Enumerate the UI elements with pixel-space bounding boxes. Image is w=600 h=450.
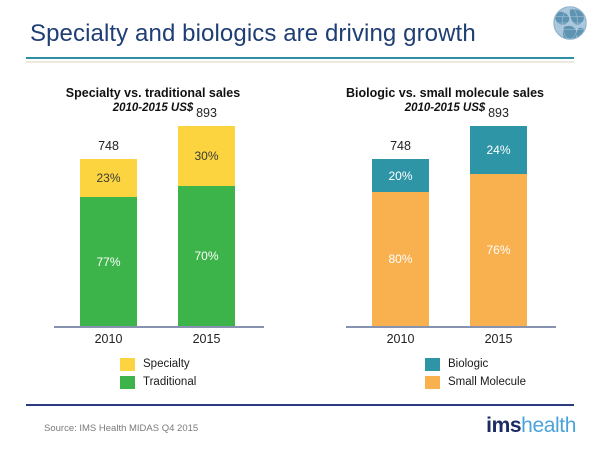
footer-divider bbox=[26, 404, 574, 406]
legend-item[interactable]: Specialty bbox=[120, 356, 196, 372]
stacked-bar-2015[interactable]: 893 24% 76% bbox=[470, 126, 527, 326]
legend-label: Traditional bbox=[143, 376, 196, 388]
bar-segment-specialty[interactable]: 30% bbox=[178, 126, 235, 186]
stacked-bar-2010[interactable]: 748 20% 80% bbox=[372, 159, 429, 326]
bar-segment-label: 24% bbox=[486, 143, 510, 157]
legend-biologic-chart: Biologic Small Molecule bbox=[425, 356, 526, 392]
stacked-bar-2015[interactable]: 893 30% 70% bbox=[178, 126, 235, 326]
legend-item[interactable]: Traditional bbox=[120, 374, 196, 390]
legend-swatch-biologic bbox=[425, 358, 440, 371]
plot-area: 748 20% 80% 893 24% 76% 2010 2015 bbox=[300, 120, 590, 390]
chart-subtitle: 2010-2015 US$ bbox=[300, 102, 590, 114]
title-underline-cream bbox=[26, 61, 574, 63]
legend-item[interactable]: Small Molecule bbox=[425, 374, 526, 390]
bar-total-label: 893 bbox=[168, 106, 245, 120]
bar-segment-label: 20% bbox=[388, 169, 412, 183]
bar-segment-specialty[interactable]: 23% bbox=[80, 159, 137, 197]
x-axis-tick-label: 2010 bbox=[70, 332, 147, 346]
legend-swatch-small-molecule bbox=[425, 376, 440, 389]
legend-swatch-specialty bbox=[120, 358, 135, 371]
bar-total-label: 748 bbox=[70, 139, 147, 153]
legend-swatch-traditional bbox=[120, 376, 135, 389]
x-axis-line bbox=[54, 326, 264, 328]
page-title: Specialty and biologics are driving grow… bbox=[30, 20, 476, 48]
legend-specialty-chart: Specialty Traditional bbox=[120, 356, 196, 392]
bar-segment-small-molecule[interactable]: 80% bbox=[372, 192, 429, 326]
logo-ims-text: ims bbox=[486, 414, 521, 437]
x-axis-tick-label: 2010 bbox=[362, 332, 439, 346]
bar-segment-label: 70% bbox=[194, 249, 218, 263]
bar-segment-small-molecule[interactable]: 76% bbox=[470, 174, 527, 326]
ims-health-logo: imshealth bbox=[486, 415, 576, 436]
bar-segment-traditional[interactable]: 70% bbox=[178, 186, 235, 326]
bar-total-label: 893 bbox=[460, 106, 537, 120]
bar-segment-label: 30% bbox=[194, 149, 218, 163]
chart-title: Specialty vs. traditional sales bbox=[8, 86, 298, 100]
bar-segment-label: 80% bbox=[388, 252, 412, 266]
chart-panel-biologic: Biologic vs. small molecule sales 2010-2… bbox=[300, 80, 590, 390]
bar-segment-traditional[interactable]: 77% bbox=[80, 197, 137, 326]
bar-segment-biologic[interactable]: 20% bbox=[372, 159, 429, 192]
slide-canvas: Specialty and biologics are driving grow… bbox=[0, 0, 600, 450]
x-axis-line bbox=[346, 326, 556, 328]
chart-subtitle: 2010-2015 US$ bbox=[8, 102, 298, 114]
x-axis-tick-label: 2015 bbox=[168, 332, 245, 346]
legend-label: Small Molecule bbox=[448, 376, 526, 388]
chart-panel-specialty: Specialty vs. traditional sales 2010-201… bbox=[8, 80, 298, 390]
legend-label: Biologic bbox=[448, 358, 488, 370]
legend-label: Specialty bbox=[143, 358, 190, 370]
bar-segment-label: 23% bbox=[96, 171, 120, 185]
x-axis-tick-label: 2015 bbox=[460, 332, 537, 346]
plot-area: 748 23% 77% 893 30% 70% 2010 2015 bbox=[8, 120, 298, 390]
legend-item[interactable]: Biologic bbox=[425, 356, 526, 372]
bar-segment-label: 77% bbox=[96, 255, 120, 269]
bar-segment-biologic[interactable]: 24% bbox=[470, 126, 527, 174]
source-note: Source: IMS Health MIDAS Q4 2015 bbox=[44, 423, 198, 434]
stacked-bar-2010[interactable]: 748 23% 77% bbox=[80, 159, 137, 326]
title-underline-teal bbox=[26, 57, 574, 59]
bar-total-label: 748 bbox=[362, 139, 439, 153]
globe-icon bbox=[551, 4, 589, 42]
chart-title: Biologic vs. small molecule sales bbox=[300, 86, 590, 100]
bar-segment-label: 76% bbox=[486, 243, 510, 257]
logo-health-text: health bbox=[521, 414, 576, 437]
